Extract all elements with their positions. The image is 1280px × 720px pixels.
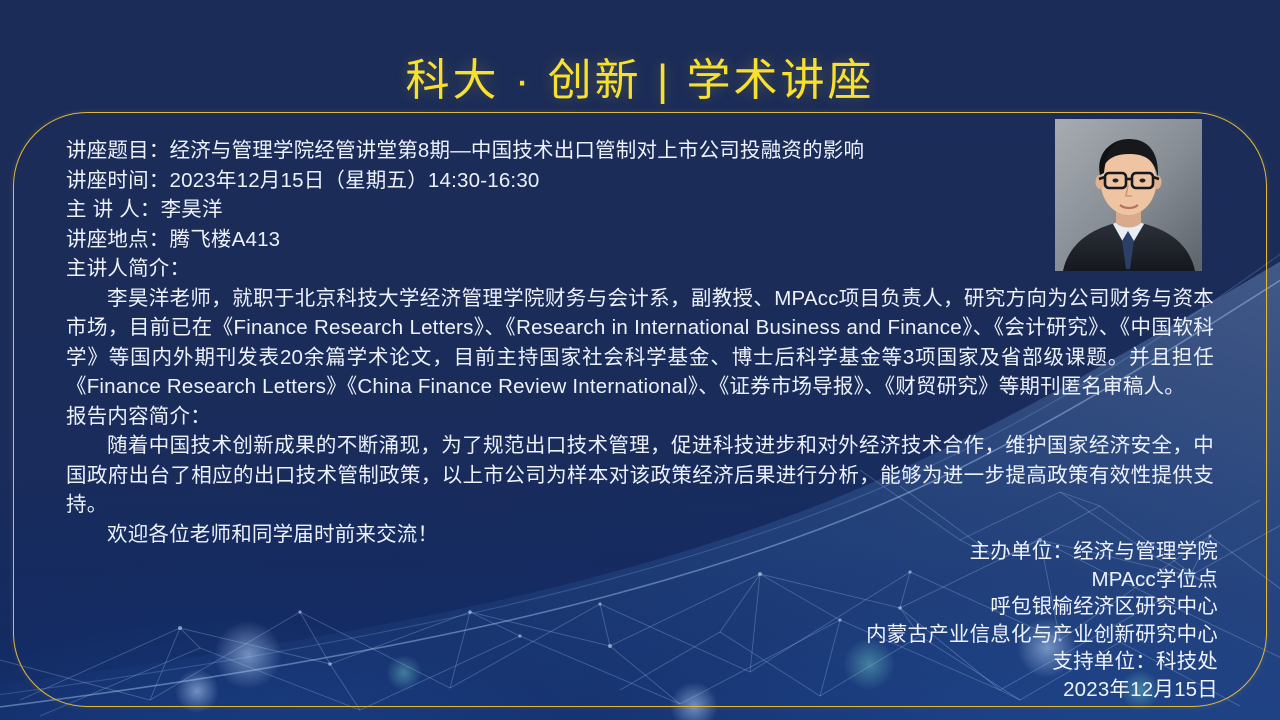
abstract-heading: 报告内容简介：	[66, 402, 1214, 432]
lecture-details: 讲座题目：经济与管理学院经管讲堂第8期—中国技术出口管制对上市公司投融资的影响 …	[66, 136, 1214, 254]
speaker-bio-heading: 主讲人简介：	[66, 254, 1214, 284]
detail-row-speaker: 主 讲 人：李昊洋	[66, 195, 1214, 225]
organizer-line-2: MPAcc学位点	[518, 566, 1218, 594]
organizer-block: 主办单位：经济与管理学院 MPAcc学位点 呼包银榆经济区研究中心 内蒙古产业信…	[518, 538, 1218, 703]
page-title: 科大 · 创新 | 学术讲座	[0, 44, 1280, 108]
topic-value: 经济与管理学院经管讲堂第8期—中国技术出口管制对上市公司投融资的影响	[170, 139, 865, 162]
speaker-label: 主 讲 人：	[66, 198, 161, 221]
abstract-paragraph: 随着中国技术创新成果的不断涌现，为了规范出口技术管理，促进科技进步和对外经济技术…	[66, 431, 1214, 520]
venue-label: 讲座地点：	[66, 228, 170, 251]
time-value: 2023年12月15日（星期五）14:30-16:30	[170, 169, 540, 192]
organizer-line-1: 主办单位：经济与管理学院	[518, 538, 1218, 566]
speaker-bio-paragraph: 李昊洋老师，就职于北京科技大学经济管理学院财务与会计系，副教授、MPAcc项目负…	[66, 284, 1214, 402]
detail-row-time: 讲座时间：2023年12月15日（星期五）14:30-16:30	[66, 166, 1214, 196]
poster-body: 讲座题目：经济与管理学院经管讲堂第8期—中国技术出口管制对上市公司投融资的影响 …	[66, 136, 1214, 549]
organizer-line-4: 内蒙古产业信息化与产业创新研究中心	[518, 621, 1218, 649]
poster-date: 2023年12月15日	[518, 676, 1218, 704]
time-label: 讲座时间：	[66, 169, 170, 192]
speaker-value: 李昊洋	[161, 198, 223, 221]
detail-row-venue: 讲座地点：腾飞楼A413	[66, 225, 1214, 255]
organizer-line-3: 呼包银榆经济区研究中心	[518, 593, 1218, 621]
detail-row-topic: 讲座题目：经济与管理学院经管讲堂第8期—中国技术出口管制对上市公司投融资的影响	[66, 136, 1214, 166]
venue-value: 腾飞楼A413	[170, 228, 281, 251]
topic-label: 讲座题目：	[66, 139, 170, 162]
lecture-poster: 科大 · 创新 | 学术讲座	[0, 0, 1280, 720]
support-unit-line: 支持单位：科技处	[518, 648, 1218, 676]
